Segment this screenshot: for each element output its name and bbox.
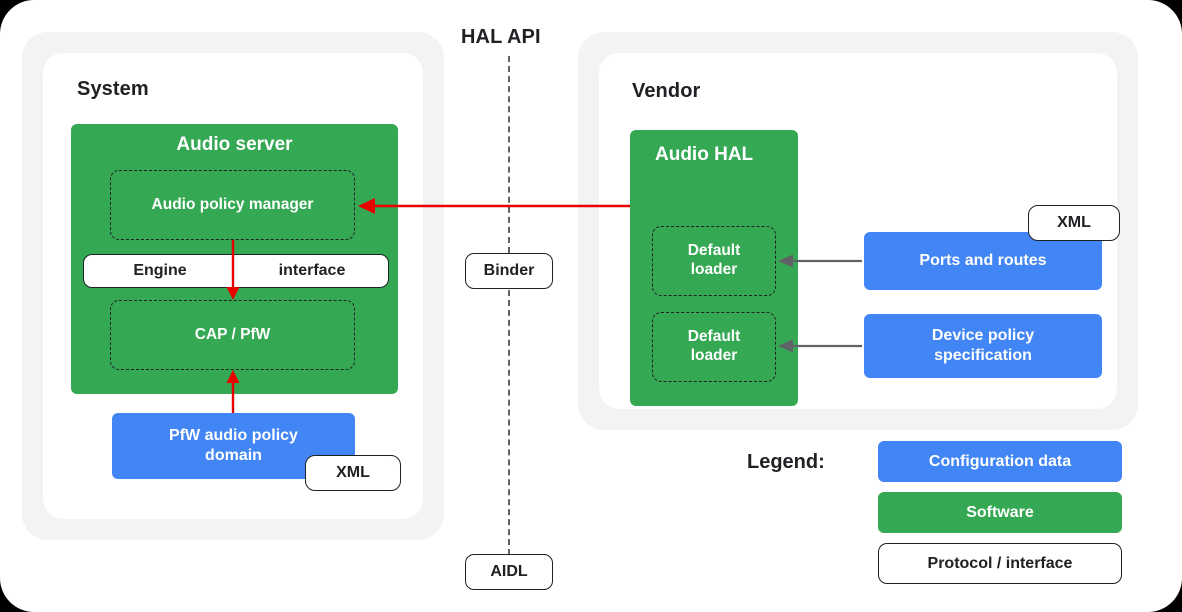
- legend-item-configuration-data-label: Configuration data: [929, 452, 1071, 472]
- legend-item-configuration-data: Configuration data: [878, 441, 1122, 482]
- legend-item-software: Software: [878, 492, 1122, 533]
- legend-item-software-label: Software: [966, 503, 1034, 523]
- legend-item-protocol-interface-label: Protocol / interface: [928, 555, 1073, 573]
- legend-label: Legend:: [747, 451, 825, 474]
- diagram-canvas: HAL API System Audio server Audio policy…: [0, 0, 1182, 612]
- legend-item-protocol-interface: Protocol / interface: [878, 543, 1122, 584]
